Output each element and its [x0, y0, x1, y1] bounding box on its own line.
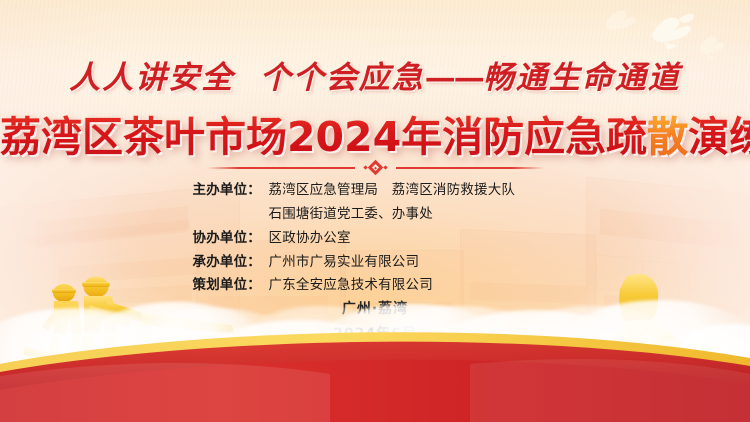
- slogan-part-2: 个个会应急: [260, 60, 425, 96]
- credit-value: 荔湾区应急管理局 荔湾区消防救援大队: [269, 180, 558, 202]
- diamond-dot-icon: [383, 165, 387, 169]
- credit-row: 主办单位： 石围塘街道党工委、办事处: [193, 204, 558, 226]
- slogan-part-1: 人人讲安全: [69, 60, 234, 96]
- diamond-gem-icon: [367, 160, 383, 176]
- credit-value: 区政协办公室: [269, 228, 558, 250]
- credit-value: 广州市广易实业有限公司: [269, 252, 558, 274]
- title-highlight: 散: [647, 113, 688, 161]
- divider-rule-left: [207, 167, 355, 169]
- credit-label: 主办单位：: [193, 180, 269, 202]
- credit-row: 主办单位： 荔湾区应急管理局 荔湾区消防救援大队: [193, 180, 558, 202]
- title-prefix: 荔湾区茶叶市场2024年消防应急疏: [0, 113, 647, 161]
- ornamental-divider: [0, 162, 750, 173]
- poster-canvas: 人人讲安全 个个会应急——畅通生命通道 荔湾区茶叶市场2024年消防应急疏散演练…: [0, 0, 750, 422]
- diamond-dot-icon: [363, 165, 367, 169]
- credit-row: 协办单位： 区政协办公室: [193, 228, 558, 250]
- poster-title: 荔湾区茶叶市场2024年消防应急疏散演练: [0, 103, 750, 163]
- divider-rule-right: [396, 167, 544, 169]
- slogan-part-3: 畅通生命通道: [483, 60, 681, 96]
- poster-slogan: 人人讲安全 个个会应急——畅通生命通道: [0, 52, 750, 97]
- credit-label: 协办单位：: [193, 228, 269, 250]
- credit-value: 广东全安应急技术有限公司: [269, 275, 558, 297]
- bottom-red-ribbon: [0, 330, 750, 422]
- title-suffix: 演练: [688, 113, 750, 161]
- divider-ornament: [364, 162, 387, 173]
- credit-value: 石围塘街道党工委、办事处: [269, 204, 558, 226]
- slogan-dash: ——: [425, 60, 483, 96]
